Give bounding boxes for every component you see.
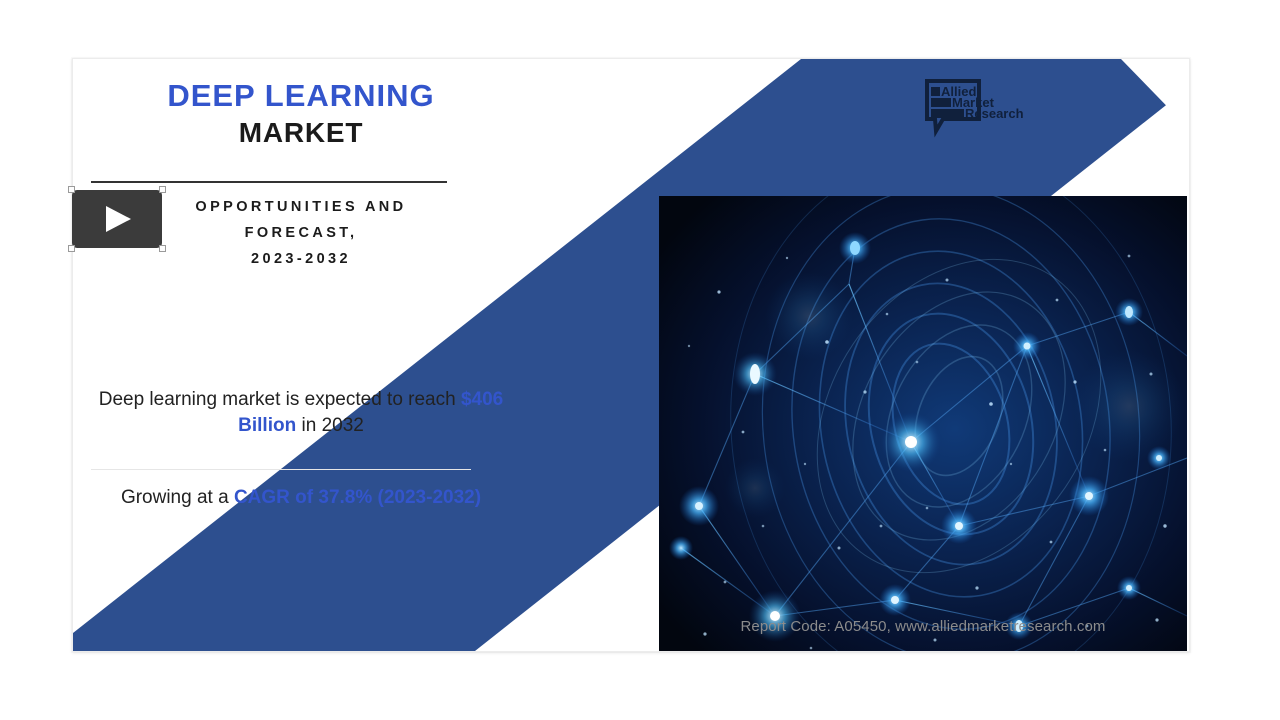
hero-image-neural-network [659, 196, 1187, 652]
stat-market-size: Deep learning market is expected to reac… [87, 387, 515, 439]
selection-handle-top-left[interactable] [68, 186, 75, 193]
left-text-column: DEEP LEARNING MARKET OPPORTUNITIES AND F… [73, 59, 533, 651]
title-line-primary: DEEP LEARNING [91, 79, 511, 114]
allied-market-research-logo: Allied Market Research [921, 79, 1031, 141]
logo-text-line-3: Research [965, 106, 1024, 121]
title-line-secondary: MARKET [91, 116, 511, 149]
selection-handle-bottom-right[interactable] [159, 245, 166, 252]
page-title: DEEP LEARNING MARKET [91, 79, 511, 149]
market-report-slide-card: DEEP LEARNING MARKET OPPORTUNITIES AND F… [72, 58, 1190, 652]
stat-cagr: Growing at a CAGR of 37.8% (2023-2032) [87, 485, 515, 511]
stat-cagr-value: CAGR of 37.8% (2023-2032) [234, 487, 481, 508]
play-button[interactable] [72, 190, 162, 248]
play-icon [106, 206, 131, 232]
stat-cagr-prefix: Growing at a [121, 487, 234, 508]
selection-handle-top-right[interactable] [159, 186, 166, 193]
stat-market-size-prefix: Deep learning market is expected to reac… [99, 389, 461, 410]
video-play-overlay[interactable] [68, 186, 166, 252]
stat-market-size-suffix: in 2032 [296, 415, 364, 436]
selection-handle-bottom-left[interactable] [68, 245, 75, 252]
stat-divider [91, 469, 471, 470]
screenshot-stage: DEEP LEARNING MARKET OPPORTUNITIES AND F… [0, 0, 1280, 720]
report-code-caption: Report Code: A05450, www.alliedmarketres… [659, 618, 1187, 635]
title-divider [91, 181, 447, 183]
